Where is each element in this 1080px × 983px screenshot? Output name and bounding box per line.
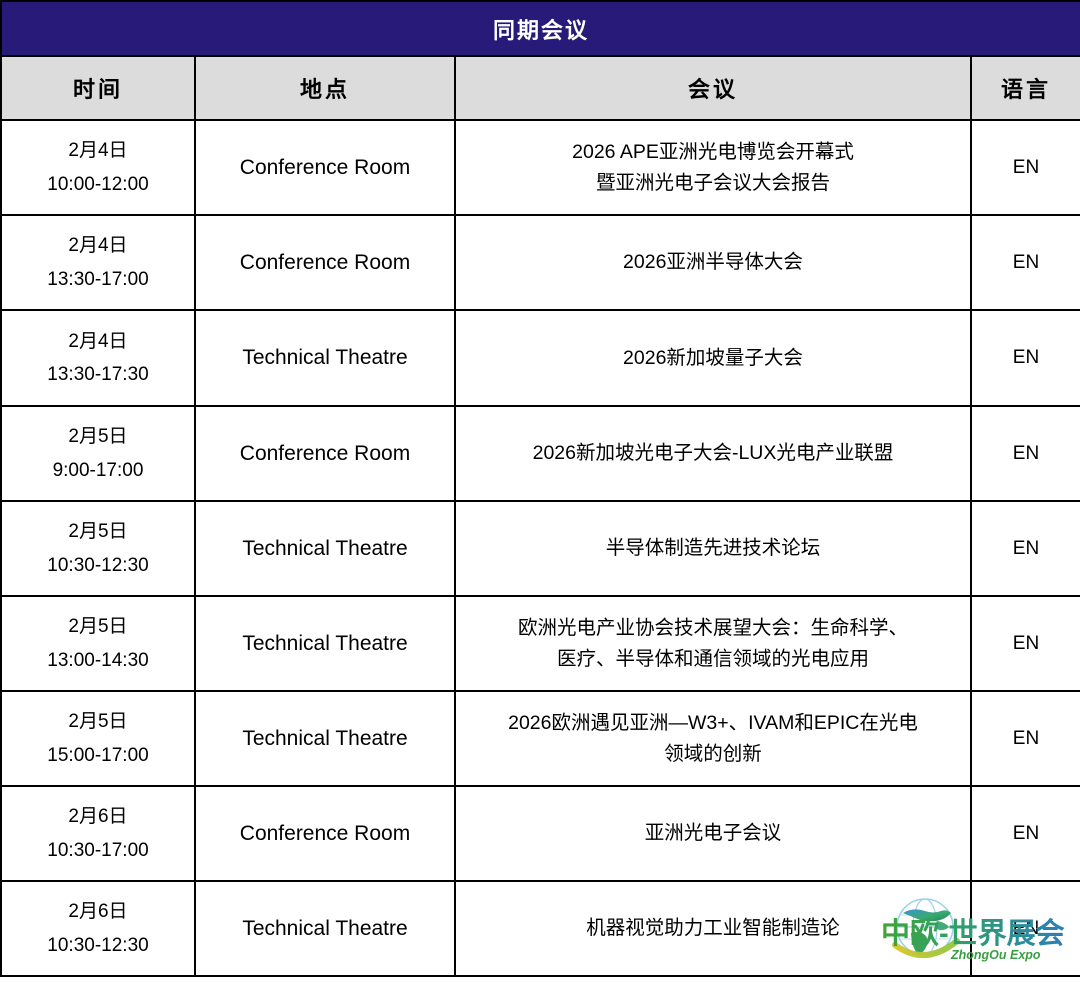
schedule-date: 2月5日: [5, 515, 191, 548]
page-title: 同期会议: [2, 2, 1080, 55]
column-header-venue: 地点: [195, 56, 455, 120]
schedule-time: 10:30-12:30: [5, 549, 191, 582]
table-header-row: 时间 地点 会议 语言: [1, 56, 1080, 120]
table-row: 2月4日 10:00-12:00 Conference Room 2026 AP…: [1, 120, 1080, 215]
cell-conference: 2026 APE亚洲光电博览会开幕式 暨亚洲光电子会议大会报告: [455, 120, 971, 215]
schedule-date: 2月4日: [5, 134, 191, 167]
cell-time: 2月4日 13:30-17:30: [1, 310, 195, 406]
cell-language: EN: [971, 691, 1080, 786]
conference-title-line: 领域的创新: [459, 739, 967, 769]
cell-conference: 欧洲光电产业协会技术展望大会：生命科学、 医疗、半导体和通信领域的光电应用: [455, 596, 971, 691]
schedule-date: 2月4日: [5, 229, 191, 262]
table-banner-row: 同期会议: [1, 1, 1080, 56]
schedule-time: 15:00-17:00: [5, 739, 191, 772]
cell-venue: Technical Theatre: [195, 596, 455, 691]
schedule-time: 10:30-12:30: [5, 929, 191, 962]
schedule-time: 10:30-17:00: [5, 834, 191, 867]
cell-venue: Conference Room: [195, 120, 455, 215]
schedule-date: 2月6日: [5, 895, 191, 928]
cell-time: 2月5日 13:00-14:30: [1, 596, 195, 691]
conference-title-line: 2026新加坡量子大会: [459, 343, 967, 373]
cell-conference: 机器视觉助力工业智能制造论: [455, 881, 971, 976]
concurrent-conferences-table: 同期会议 时间 地点 会议 语言 2月4日 10:00-12:00 Confer…: [0, 0, 1080, 977]
cell-time: 2月6日 10:30-12:30: [1, 881, 195, 976]
schedule-time: 13:30-17:00: [5, 263, 191, 296]
conference-title-line: 医疗、半导体和通信领域的光电应用: [459, 644, 967, 674]
schedule-date: 2月5日: [5, 705, 191, 738]
table-row: 2月4日 13:30-17:30 Technical Theatre 2026新…: [1, 310, 1080, 406]
cell-conference: 2026新加坡光电子大会-LUX光电产业联盟: [455, 406, 971, 501]
cell-time: 2月6日 10:30-17:00: [1, 786, 195, 881]
cell-time: 2月5日 9:00-17:00: [1, 406, 195, 501]
cell-language: EN: [971, 310, 1080, 406]
cell-time: 2月5日 15:00-17:00: [1, 691, 195, 786]
table-row: 2月4日 13:30-17:00 Conference Room 2026亚洲半…: [1, 215, 1080, 310]
cell-time: 2月5日 10:30-12:30: [1, 501, 195, 596]
schedule-date: 2月6日: [5, 800, 191, 833]
column-header-conference: 会议: [455, 56, 971, 120]
cell-language: EN: [971, 786, 1080, 881]
table-row: 2月5日 15:00-17:00 Technical Theatre 2026欧…: [1, 691, 1080, 786]
cell-venue: Conference Room: [195, 406, 455, 501]
conference-title-line: 半导体制造先进技术论坛: [459, 533, 967, 563]
cell-conference: 亚洲光电子会议: [455, 786, 971, 881]
cell-venue: Conference Room: [195, 215, 455, 310]
table-row: 2月5日 13:00-14:30 Technical Theatre 欧洲光电产…: [1, 596, 1080, 691]
cell-venue: Conference Room: [195, 786, 455, 881]
cell-language: EN: [971, 406, 1080, 501]
conference-title-line: 欧洲光电产业协会技术展望大会：生命科学、: [459, 613, 967, 643]
conference-schedule-sheet: 同期会议 时间 地点 会议 语言 2月4日 10:00-12:00 Confer…: [0, 0, 1080, 983]
cell-conference: 半导体制造先进技术论坛: [455, 501, 971, 596]
conference-title-line: 2026 APE亚洲光电博览会开幕式: [459, 137, 967, 167]
cell-conference: 2026新加坡量子大会: [455, 310, 971, 406]
schedule-date: 2月4日: [5, 325, 191, 358]
cell-venue: Technical Theatre: [195, 501, 455, 596]
cell-language: EN: [971, 501, 1080, 596]
cell-venue: Technical Theatre: [195, 691, 455, 786]
conference-title-line: 2026新加坡光电子大会-LUX光电产业联盟: [459, 438, 967, 468]
conference-title-line: 机器视觉助力工业智能制造论: [459, 913, 967, 943]
schedule-time: 13:30-17:30: [5, 358, 191, 391]
column-header-time: 时间: [1, 56, 195, 120]
schedule-time: 9:00-17:00: [5, 454, 191, 487]
cell-time: 2月4日 13:30-17:00: [1, 215, 195, 310]
column-header-language: 语言: [971, 56, 1080, 120]
table-row: 2月5日 10:30-12:30 Technical Theatre 半导体制造…: [1, 501, 1080, 596]
cell-language: EN: [971, 596, 1080, 691]
cell-venue: Technical Theatre: [195, 310, 455, 406]
banner-cell: 同期会议: [1, 1, 1080, 56]
table-row: 2月6日 10:30-17:00 Conference Room 亚洲光电子会议…: [1, 786, 1080, 881]
conference-title-line: 2026欧洲遇见亚洲—W3+、IVAM和EPIC在光电: [459, 708, 967, 738]
table-row: 2月5日 9:00-17:00 Conference Room 2026新加坡光…: [1, 406, 1080, 501]
cell-language: EN: [971, 215, 1080, 310]
cell-conference: 2026亚洲半导体大会: [455, 215, 971, 310]
cell-language: EN: [971, 120, 1080, 215]
conference-title-line: 暨亚洲光电子会议大会报告: [459, 168, 967, 198]
schedule-time: 10:00-12:00: [5, 168, 191, 201]
table-row: 2月6日 10:30-12:30 Technical Theatre 机器视觉助…: [1, 881, 1080, 976]
conference-title-line: 亚洲光电子会议: [459, 818, 967, 848]
cell-time: 2月4日 10:00-12:00: [1, 120, 195, 215]
conference-title-line: 2026亚洲半导体大会: [459, 247, 967, 277]
schedule-date: 2月5日: [5, 610, 191, 643]
schedule-time: 13:00-14:30: [5, 644, 191, 677]
cell-venue: Technical Theatre: [195, 881, 455, 976]
cell-conference: 2026欧洲遇见亚洲—W3+、IVAM和EPIC在光电 领域的创新: [455, 691, 971, 786]
cell-language: EN: [971, 881, 1080, 976]
schedule-date: 2月5日: [5, 420, 191, 453]
